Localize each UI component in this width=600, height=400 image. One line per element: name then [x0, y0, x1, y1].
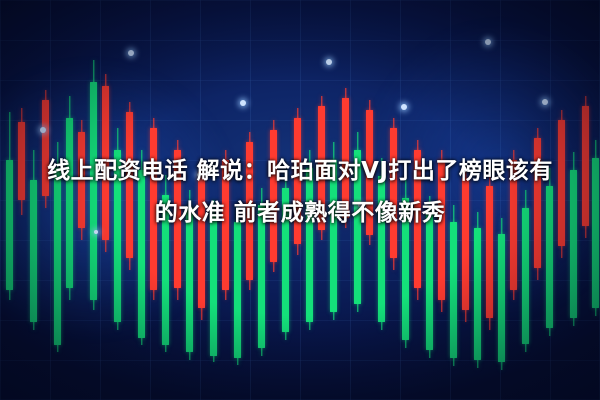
headline: 线上配资电话 解说：哈珀面对VJ打出了榜眼该有 的水准 前者成熟得不像新秀	[0, 150, 600, 234]
headline-line-2: 的水准 前者成熟得不像新秀	[10, 192, 590, 234]
promo-banner-image: 线上配资电话 解说：哈珀面对VJ打出了榜眼该有 的水准 前者成熟得不像新秀	[0, 0, 600, 400]
headline-line-1: 线上配资电话 解说：哈珀面对VJ打出了榜眼该有	[47, 158, 553, 184]
